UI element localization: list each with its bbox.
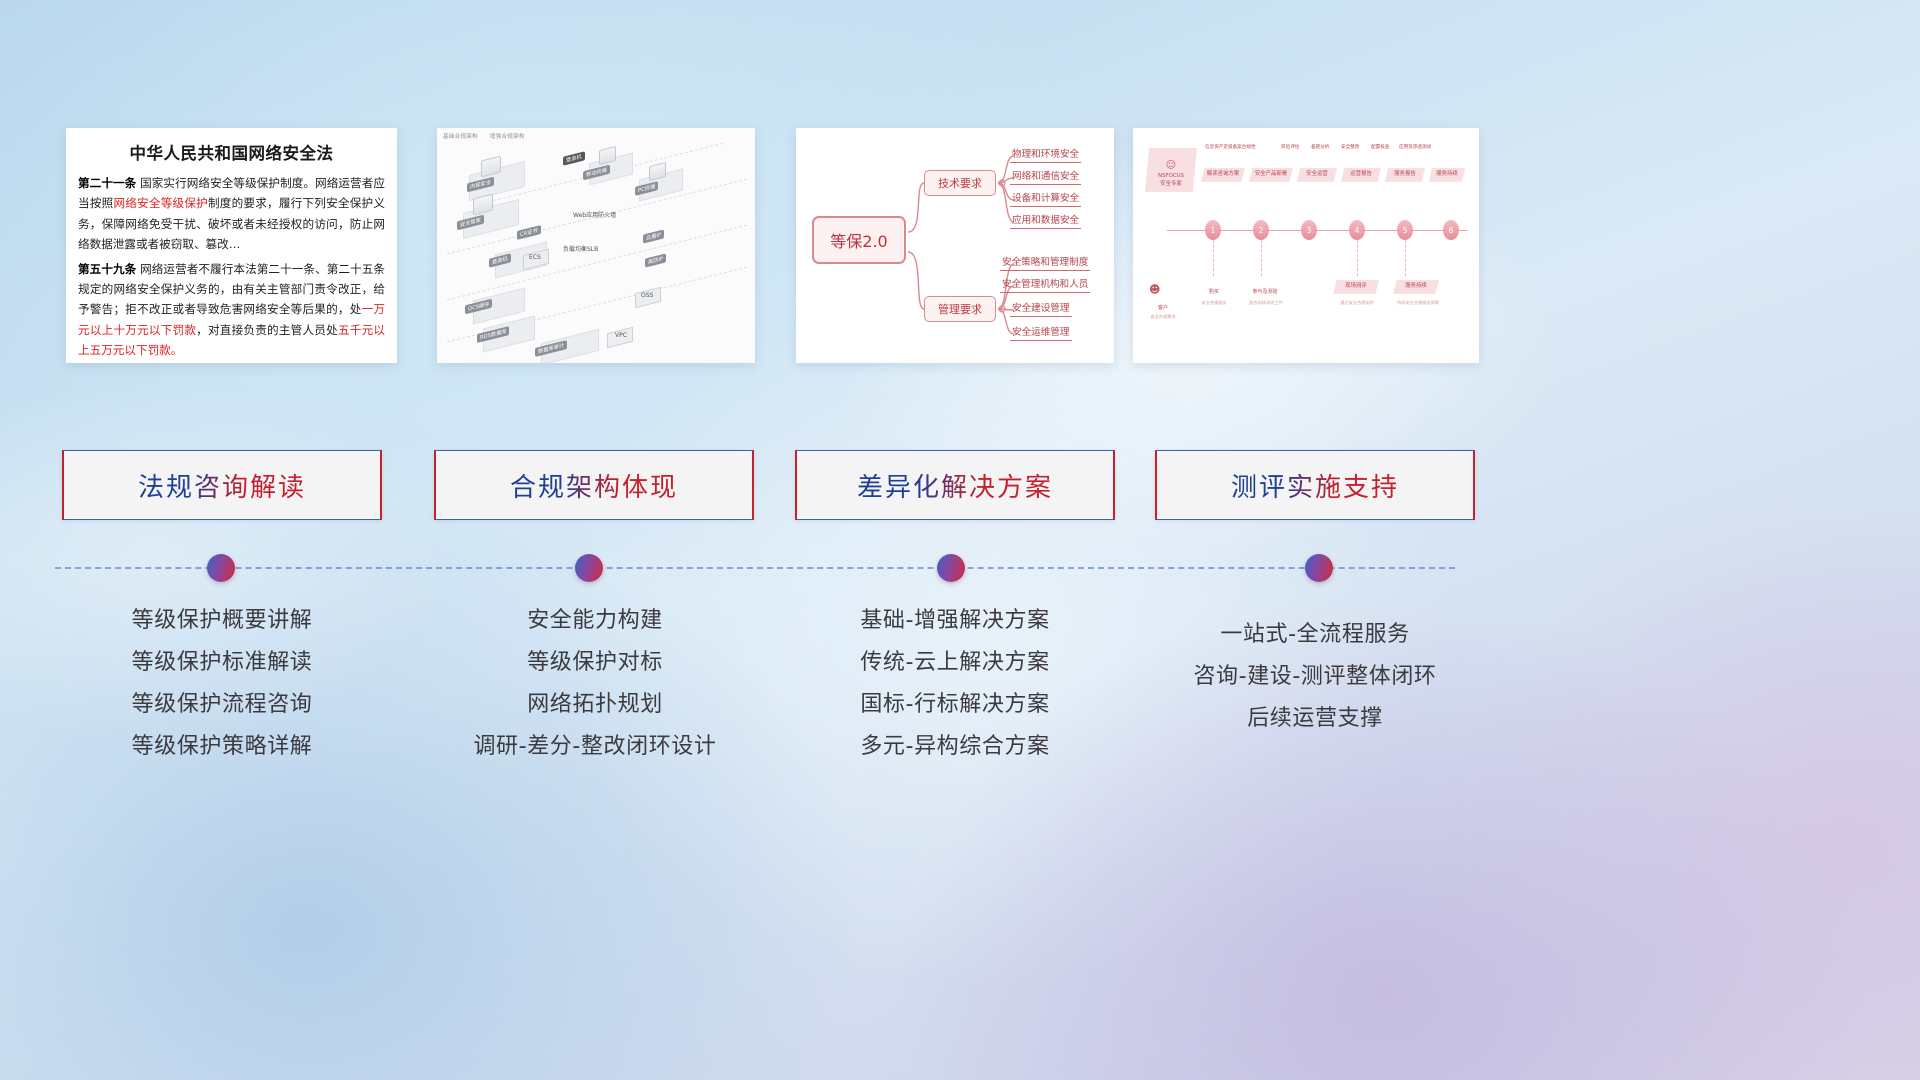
mindmap-leaf-tech-4: 应用和数据安全 (1010, 212, 1081, 229)
timeline-dot-3[interactable] (937, 554, 965, 582)
top-step-1: 信息资产定级备案合规性 (1205, 144, 1256, 150)
mindmap-root-node: 等保2.0 (812, 216, 906, 264)
detail-column-4: 一站式-全流程服务 咨询-建设-测评整体闭环 后续运营支撑 (1145, 614, 1485, 740)
node-label-vpc: VPC (615, 332, 627, 339)
timeline-dot-1[interactable] (207, 554, 235, 582)
list-item: 等级保护流程咨询 (62, 684, 382, 726)
service-step-node-1: 1 (1205, 220, 1221, 240)
service-step-node-3: 3 (1301, 220, 1317, 240)
expert-subtitle: 安全专家 (1160, 181, 1182, 189)
headline-box-1[interactable]: 法规咨询解读 (62, 450, 382, 520)
law-article-21-number: 第二十一条 (78, 176, 136, 190)
law-article-21: 第二十一条 国家实行网络安全等级保护制度。网络运营者应当按照网络安全等级保护制度… (78, 173, 385, 255)
headline-label-2: 合规架构体现 (510, 467, 678, 504)
bottom-left-label-1: 购买 (1193, 288, 1235, 295)
service-connector (1261, 240, 1262, 276)
mindmap-leaf-tech-1: 物理和环境安全 (1010, 146, 1081, 163)
architecture-tabs: 基础合规架构 增强合规架构 (443, 132, 535, 140)
service-step-label-1: 解读咨询方案 (1201, 168, 1245, 182)
slide-content: 中华人民共和国网络安全法 第二十一条 国家实行网络安全等级保护制度。网络运营者应… (0, 0, 1920, 1080)
timeline-dot-2[interactable] (575, 554, 603, 582)
mindmap: 等保2.0 技术要求 管理要求 物理和环境安全 网络和通信安全 设备和计算安全 … (796, 128, 1114, 363)
law-text-body: 中华人民共和国网络安全法 第二十一条 国家实行网络安全等级保护制度。网络运营者应… (66, 128, 397, 363)
detail-list-row: 等级保护概要讲解 等级保护标准解读 等级保护流程咨询 等级保护策略详解 安全能力… (0, 600, 1920, 830)
bottom-left-sub-2: 配合现场测评工作 (1237, 300, 1295, 306)
list-item: 后续运营支撑 (1145, 698, 1485, 740)
timeline (55, 567, 1455, 569)
service-timeline: ☺ NSFOCUS 安全专家 信息资产定级备案合规性 风险评估 差距分析 安全整… (1133, 128, 1479, 363)
list-item: 基础-增强解决方案 (790, 600, 1120, 642)
list-item: 网络拓扑规划 (420, 684, 770, 726)
expert-ribbon: ☺ NSFOCUS 安全专家 (1145, 148, 1197, 192)
service-timeline-inner: ☺ NSFOCUS 安全专家 信息资产定级备案合规性 风险评估 差距分析 安全整… (1143, 138, 1471, 355)
node-tag-yundun: 云盾IP (643, 229, 664, 243)
service-step-node-4: 4 (1349, 220, 1365, 240)
mindmap-leaf-tech-2: 网络和通信安全 (1010, 168, 1081, 185)
list-item: 等级保护对标 (420, 642, 770, 684)
architecture-tab-basic: 基础合规架构 (443, 134, 478, 140)
headline-label-3: 差异化解决方案 (857, 467, 1053, 504)
client-person-icon: ☻ (1149, 284, 1160, 295)
headline-box-2[interactable]: 合规架构体现 (434, 450, 754, 520)
list-item: 一站式-全流程服务 (1145, 614, 1485, 656)
top-step-3: 差距分析 (1311, 144, 1329, 150)
bottom-left-sub-1: 安全合规服务 (1189, 300, 1239, 306)
node-tag-ca: CA证书 (517, 225, 541, 240)
bottom-right-label-2: 服务持续 (1393, 280, 1439, 294)
mindmap-branch-management: 管理要求 (924, 296, 996, 322)
law-title: 中华人民共和国网络安全法 (78, 140, 385, 164)
client-sublabel: 安全合规需求 (1141, 314, 1185, 320)
service-step-label-4: 运营报告 (1341, 168, 1381, 182)
mindmap-card: 等保2.0 技术要求 管理要求 物理和环境安全 网络和通信安全 设备和计算安全 … (796, 128, 1114, 363)
node-tag-baoleiji: 堡垒机 (563, 151, 585, 165)
node-label-slb: 负载均衡SLB (563, 244, 598, 253)
architecture-canvas: 内容安全 安全管家 堡垒机 OCS缓存 RDS数据库 移动终端 (443, 144, 749, 357)
mindmap-leaf-mgmt-3: 安全建设管理 (1010, 300, 1072, 317)
service-step-label-5: 服务报告 (1385, 168, 1425, 182)
service-step-label-6: 服务持续 (1429, 168, 1465, 182)
bottom-right-sub-2: 持续安全合规服务保障 (1385, 300, 1451, 306)
node-tag-gaofang: 高防IP (645, 253, 666, 267)
list-item: 等级保护标准解读 (62, 642, 382, 684)
bottom-right-sub-1: 通过安全合规测评 (1327, 300, 1387, 306)
architecture-diagram-card: 基础合规架构 增强合规架构 内容安全 安全管家 (437, 128, 755, 363)
detail-column-3: 基础-增强解决方案 传统-云上解决方案 国标-行标解决方案 多元-异构综合方案 (790, 600, 1120, 768)
person-star-icon: ☺ (1166, 161, 1176, 171)
top-step-4: 安全整改 (1341, 144, 1359, 150)
client-label: 客户 (1143, 304, 1183, 311)
node-label-oss: OSS (641, 292, 653, 299)
headline-label-4: 测评实施支持 (1231, 467, 1399, 504)
headline-box-4[interactable]: 测评实施支持 (1155, 450, 1475, 520)
mindmap-leaf-mgmt-2: 安全管理机构和人员 (1000, 276, 1090, 293)
list-item: 安全能力构建 (420, 600, 770, 642)
list-item: 调研-差分-整改闭环设计 (420, 726, 770, 768)
detail-column-2: 安全能力构建 等级保护对标 网络拓扑规划 调研-差分-整改闭环设计 (420, 600, 770, 768)
service-connector (1213, 240, 1214, 276)
top-step-2: 风险评估 (1281, 144, 1299, 150)
detail-column-1: 等级保护概要讲解 等级保护标准解读 等级保护流程咨询 等级保护策略详解 (62, 600, 382, 768)
list-item: 多元-异构综合方案 (790, 726, 1120, 768)
law-article-59: 第五十九条 网络运营者不履行本法第二十一条、第二十五条规定的网络安全保护义务的，… (78, 259, 385, 361)
architecture-tab-enhanced: 增强合规架构 (490, 134, 525, 140)
mindmap-leaf-mgmt-1: 安全策略和管理制度 (1000, 254, 1090, 271)
law-article-59-text-b: ，对直接负责的主管人员处 (196, 323, 338, 337)
bottom-left-label-2: 参与及测验 (1241, 288, 1289, 295)
mindmap-leaf-mgmt-4: 安全运维管理 (1010, 324, 1072, 341)
service-step-node-6: 6 (1443, 220, 1459, 240)
service-step-node-5: 5 (1397, 220, 1413, 240)
list-item: 等级保护概要讲解 (62, 600, 382, 642)
mindmap-leaf-tech-3: 设备和计算安全 (1010, 190, 1081, 207)
top-step-6: 应用及渗透测试 (1399, 144, 1431, 150)
expert-title: NSFOCUS (1158, 173, 1184, 181)
list-item: 国标-行标解决方案 (790, 684, 1120, 726)
list-item: 传统-云上解决方案 (790, 642, 1120, 684)
node-label-ecs: ECS (529, 254, 541, 261)
law-text-card: 中华人民共和国网络安全法 第二十一条 国家实行网络安全等级保护制度。网络运营者应… (66, 128, 397, 363)
image-card-row: 中华人民共和国网络安全法 第二十一条 国家实行网络安全等级保护制度。网络运营者应… (0, 128, 1920, 363)
service-connector (1405, 240, 1406, 276)
service-connector (1357, 240, 1358, 276)
law-article-21-highlight: 网络安全等级保护 (113, 196, 208, 210)
service-step-label-2: 安全产品部署 (1249, 168, 1293, 182)
timeline-dot-4[interactable] (1305, 554, 1333, 582)
headline-row: 法规咨询解读 合规架构体现 差异化解决方案 测评实施支持 (0, 450, 1920, 520)
top-step-5: 配置核查 (1371, 144, 1389, 150)
node-label-waf: Web应用防火墙 (573, 210, 616, 219)
list-item: 咨询-建设-测评整体闭环 (1145, 656, 1485, 698)
headline-label-1: 法规咨询解读 (138, 467, 306, 504)
list-item: 等级保护策略详解 (62, 726, 382, 768)
service-step-node-2: 2 (1253, 220, 1269, 240)
architecture-diagram: 基础合规架构 增强合规架构 内容安全 安全管家 (437, 128, 755, 363)
bottom-right-label-1: 现场测评 (1333, 280, 1379, 294)
law-article-59-number: 第五十九条 (78, 262, 136, 276)
mindmap-branch-technical: 技术要求 (924, 170, 996, 196)
headline-box-3[interactable]: 差异化解决方案 (795, 450, 1115, 520)
service-step-label-3: 安全运营 (1297, 168, 1337, 182)
service-timeline-card: ☺ NSFOCUS 安全专家 信息资产定级备案合规性 风险评估 差距分析 安全整… (1133, 128, 1479, 363)
timeline-dashed-line (55, 567, 1455, 569)
